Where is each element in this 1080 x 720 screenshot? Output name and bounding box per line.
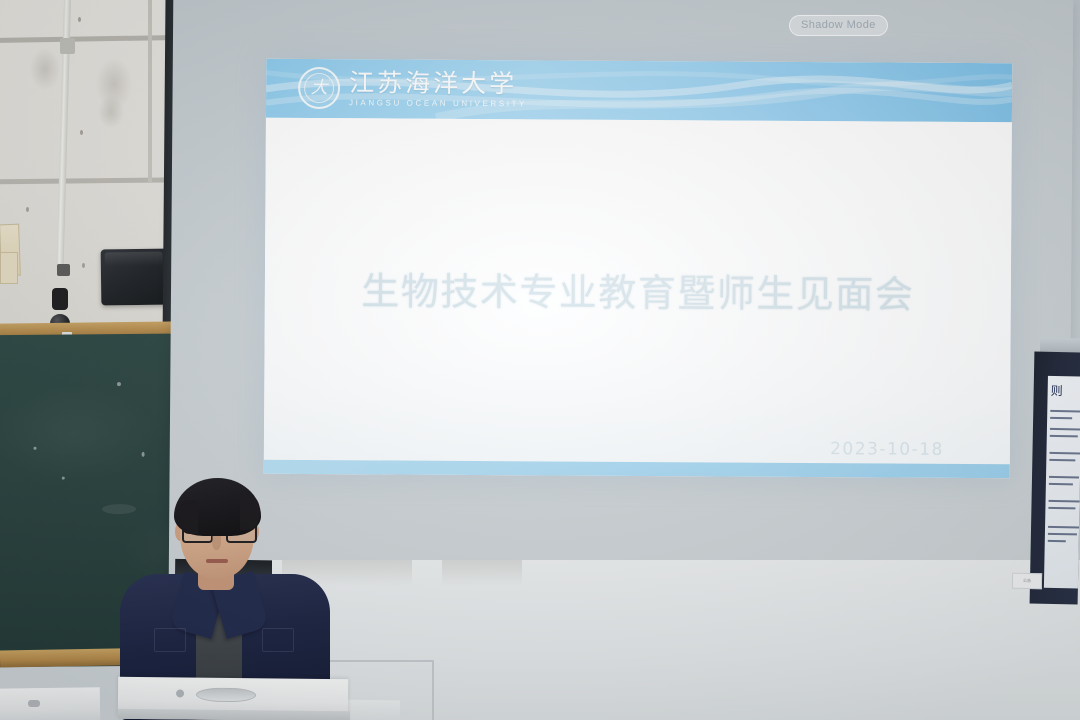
chalk-mark [142, 452, 145, 457]
mouth [206, 559, 228, 563]
nose [212, 536, 221, 550]
pole-clamp [52, 288, 68, 310]
poster-text-line [1049, 452, 1080, 455]
chalk-mark [34, 447, 37, 450]
seal-glyph: 大 [311, 79, 328, 96]
jacket-pocket-left [154, 628, 186, 652]
poster-heading: 则 [1051, 382, 1063, 399]
poster-text-line [1049, 476, 1079, 479]
chalk-mark [62, 477, 65, 480]
poster-text-line [1049, 483, 1073, 485]
slide-header-band: 大 江苏海洋大学 JIANGSU OCEAN UNIVERSITY [266, 59, 1012, 123]
pole-bracket [60, 38, 75, 54]
presentation-slide: 大 江苏海洋大学 JIANGSU OCEAN UNIVERSITY 生物技术专业… [264, 59, 1013, 479]
university-logo-text: 江苏海洋大学 JIANGSU OCEAN UNIVERSITY [349, 69, 527, 108]
wall-screw [82, 263, 85, 268]
wall-screw [80, 130, 83, 135]
slide-title: 生物技术专业教育暨师生见面会 [265, 260, 1011, 320]
chalk-mark [117, 382, 121, 386]
university-seal-icon: 大 [298, 67, 340, 109]
poster-sheet: 则 [1044, 376, 1080, 589]
poster-text-line [1048, 540, 1066, 542]
wall-screw [26, 207, 29, 212]
screenshot-canvas: 大 江苏海洋大学 JIANGSU OCEAN UNIVERSITY 生物技术专业… [0, 0, 1080, 720]
poster-text-line [1050, 410, 1080, 413]
slide-date: 2023-10-18 [830, 439, 944, 460]
university-name-en: JIANGSU OCEAN UNIVERSITY [349, 98, 527, 108]
pole-joint [57, 264, 70, 276]
poster-text-line [1048, 526, 1080, 529]
jacket-pocket-right [262, 628, 294, 652]
podium-edge [118, 709, 350, 720]
poster-text-line [1050, 417, 1072, 419]
poster-text-line [1049, 500, 1080, 503]
wall-smudge [30, 48, 60, 90]
university-logo: 大 江苏海洋大学 JIANGSU OCEAN UNIVERSITY [298, 67, 527, 110]
poster-text-line [1048, 533, 1077, 536]
wall-grime [442, 560, 522, 586]
wall-speaker [101, 249, 170, 306]
desk-knob [28, 700, 40, 707]
wall-paper-note [0, 252, 18, 284]
wall-smudge [98, 96, 124, 128]
podium-knob [176, 689, 184, 697]
poster-text-line [1050, 435, 1078, 438]
shadow-mode-badge[interactable]: Shadow Mode [789, 15, 888, 36]
poster-text-line [1049, 459, 1075, 461]
poster-text-line [1050, 428, 1080, 431]
university-name-cn: 江苏海洋大学 [349, 69, 527, 97]
wall-panel-edge [148, 0, 152, 182]
poster-tag: 公告 [1012, 573, 1042, 590]
slide-body: 生物技术专业教育暨师生见面会 2023-10-18 [264, 118, 1012, 465]
wall-poster: 则 [1030, 352, 1080, 605]
door-edge [432, 660, 434, 720]
podium-slot [196, 688, 256, 703]
side-desk-left [0, 687, 100, 720]
lower-wall [272, 560, 1080, 720]
poster-text-line [1048, 507, 1075, 510]
wall-screw [78, 17, 81, 22]
